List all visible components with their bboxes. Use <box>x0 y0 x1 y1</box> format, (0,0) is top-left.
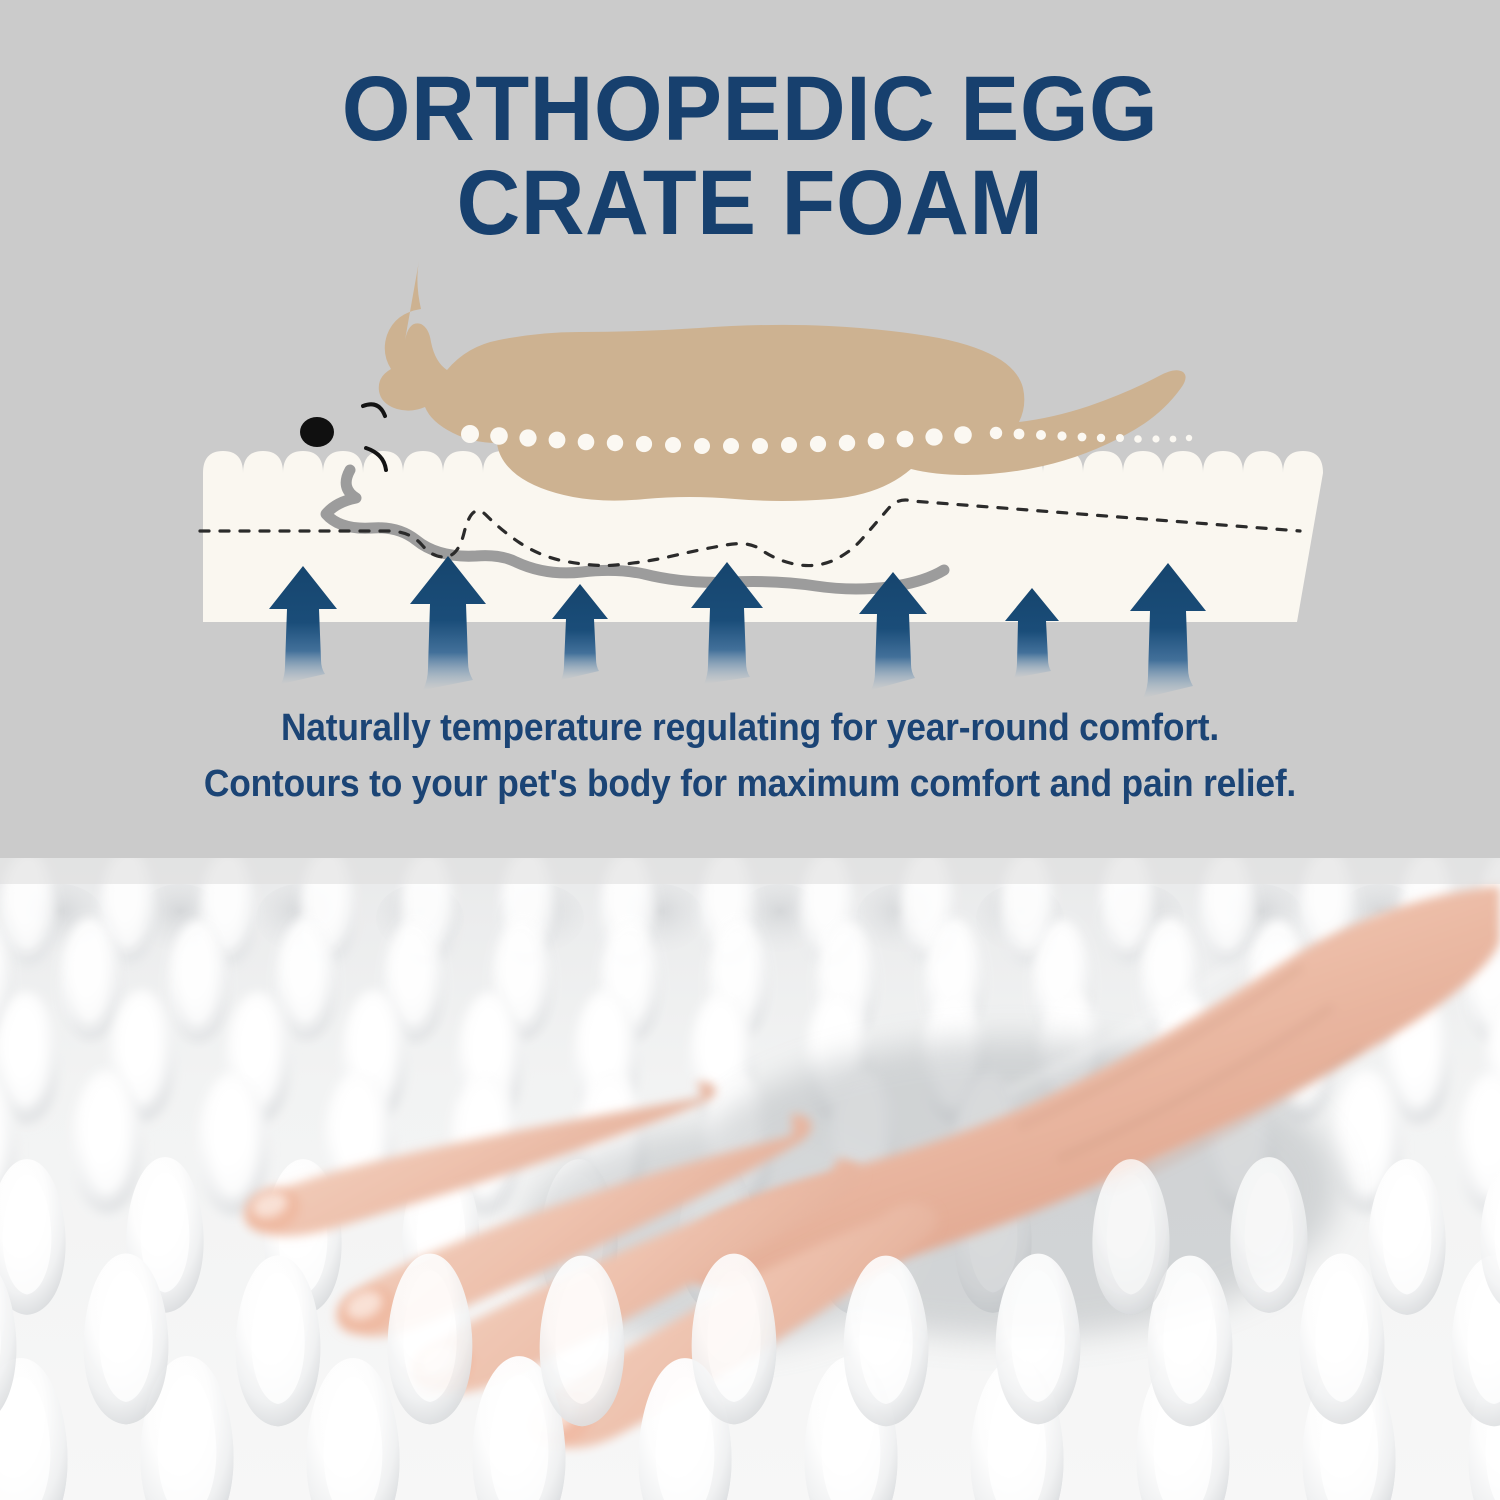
feature-line-1: Naturally temperature regulating for yea… <box>53 700 1448 756</box>
foam-photo-illustration <box>0 858 1500 1500</box>
foam-closeup-photo <box>0 858 1500 1500</box>
feature-description: Naturally temperature regulating for yea… <box>53 700 1448 812</box>
infographic-panel: ORTHOPEDIC EGG CRATE FOAM <box>0 0 1500 858</box>
dog-eye <box>363 404 385 416</box>
product-infographic: ORTHOPEDIC EGG CRATE FOAM <box>0 0 1500 1500</box>
feature-line-2: Contours to your pet's body for maximum … <box>53 756 1448 812</box>
dog-nose <box>300 417 334 447</box>
